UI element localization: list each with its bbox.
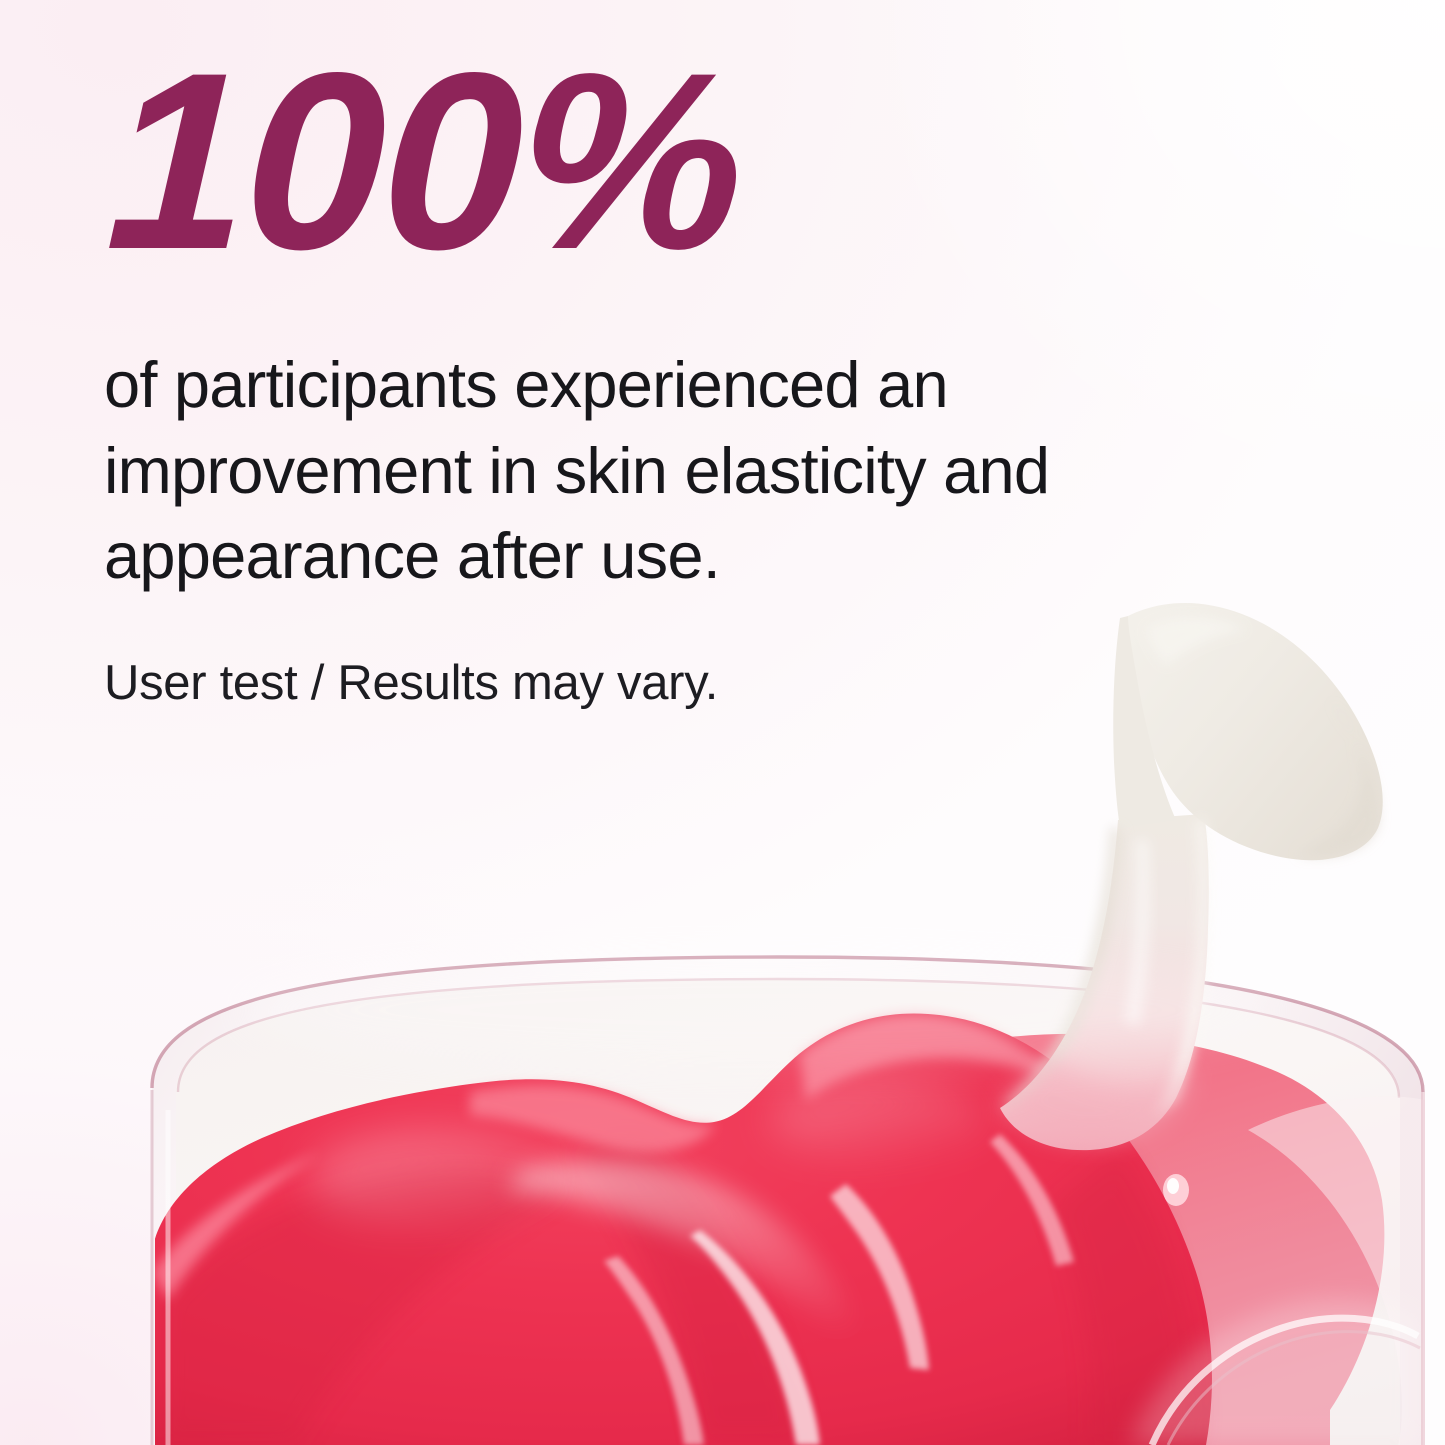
headline-percentage: 100% [104, 46, 1292, 278]
gel-droplet [1163, 1174, 1189, 1206]
glass-front-wall [152, 1090, 1425, 1445]
disclaimer-text: User test / Results may vary. [104, 653, 1284, 714]
glass-jar [152, 957, 1423, 1445]
claim-body-text: of participants experienced an improveme… [104, 342, 1264, 599]
claim-text-block: 100% of participants experienced an impr… [104, 46, 1284, 714]
pink-gel [150, 1013, 1384, 1445]
promo-card: 100% of participants experienced an impr… [0, 0, 1445, 1445]
